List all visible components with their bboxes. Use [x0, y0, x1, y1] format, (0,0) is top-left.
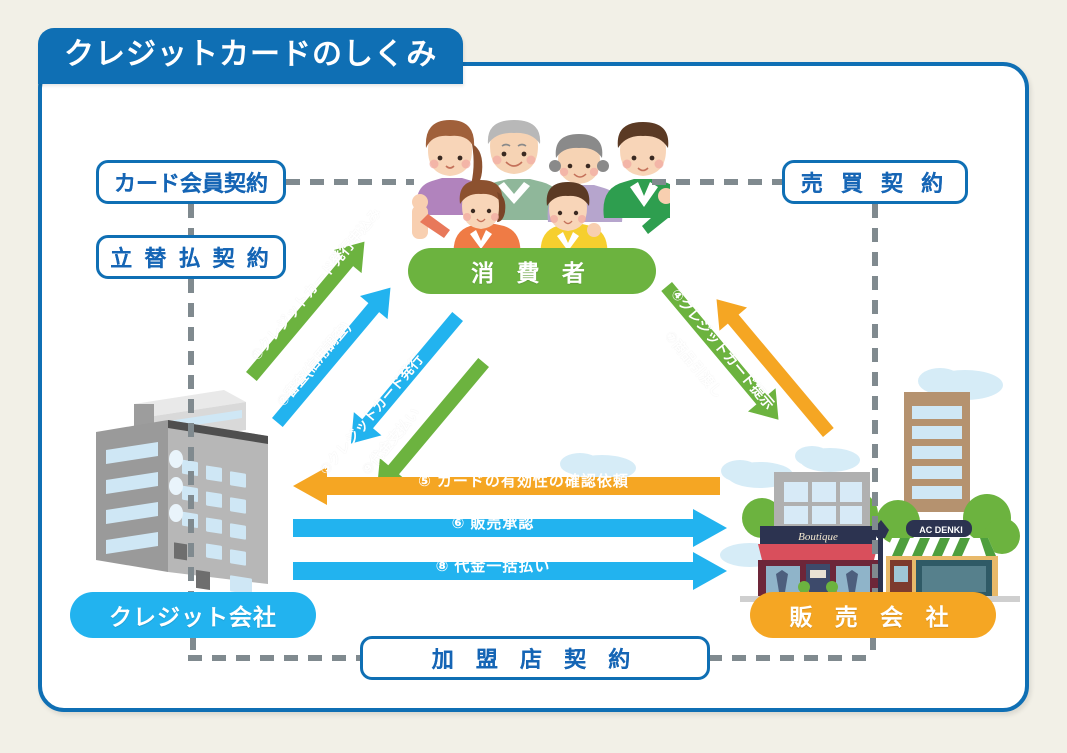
contract-box-member[interactable]: カード会員契約: [96, 160, 286, 204]
contract-box-advance-payment[interactable]: 立 替 払 契 約: [96, 235, 286, 279]
page-title: クレジットカードのしくみ: [38, 28, 463, 84]
flow-label-6: ⑥ 販売承認: [293, 509, 693, 535]
entity-pill-seller[interactable]: 販 売 会 社: [750, 592, 996, 638]
diagram-canvas: クレジットカードのしくみ: [0, 0, 1067, 753]
entity-pill-consumer[interactable]: 消 費 者: [408, 248, 656, 294]
contract-box-sale[interactable]: 売 買 契 約: [782, 160, 968, 204]
entity-pill-credit-company[interactable]: クレジット会社: [70, 592, 316, 638]
flow-label-5: ⑤ カードの有効性の確認依頼: [327, 467, 720, 493]
flow-label-8: ⑧ 代金一括払い: [293, 552, 693, 578]
contract-box-merchant[interactable]: 加 盟 店 契 約: [360, 636, 710, 680]
